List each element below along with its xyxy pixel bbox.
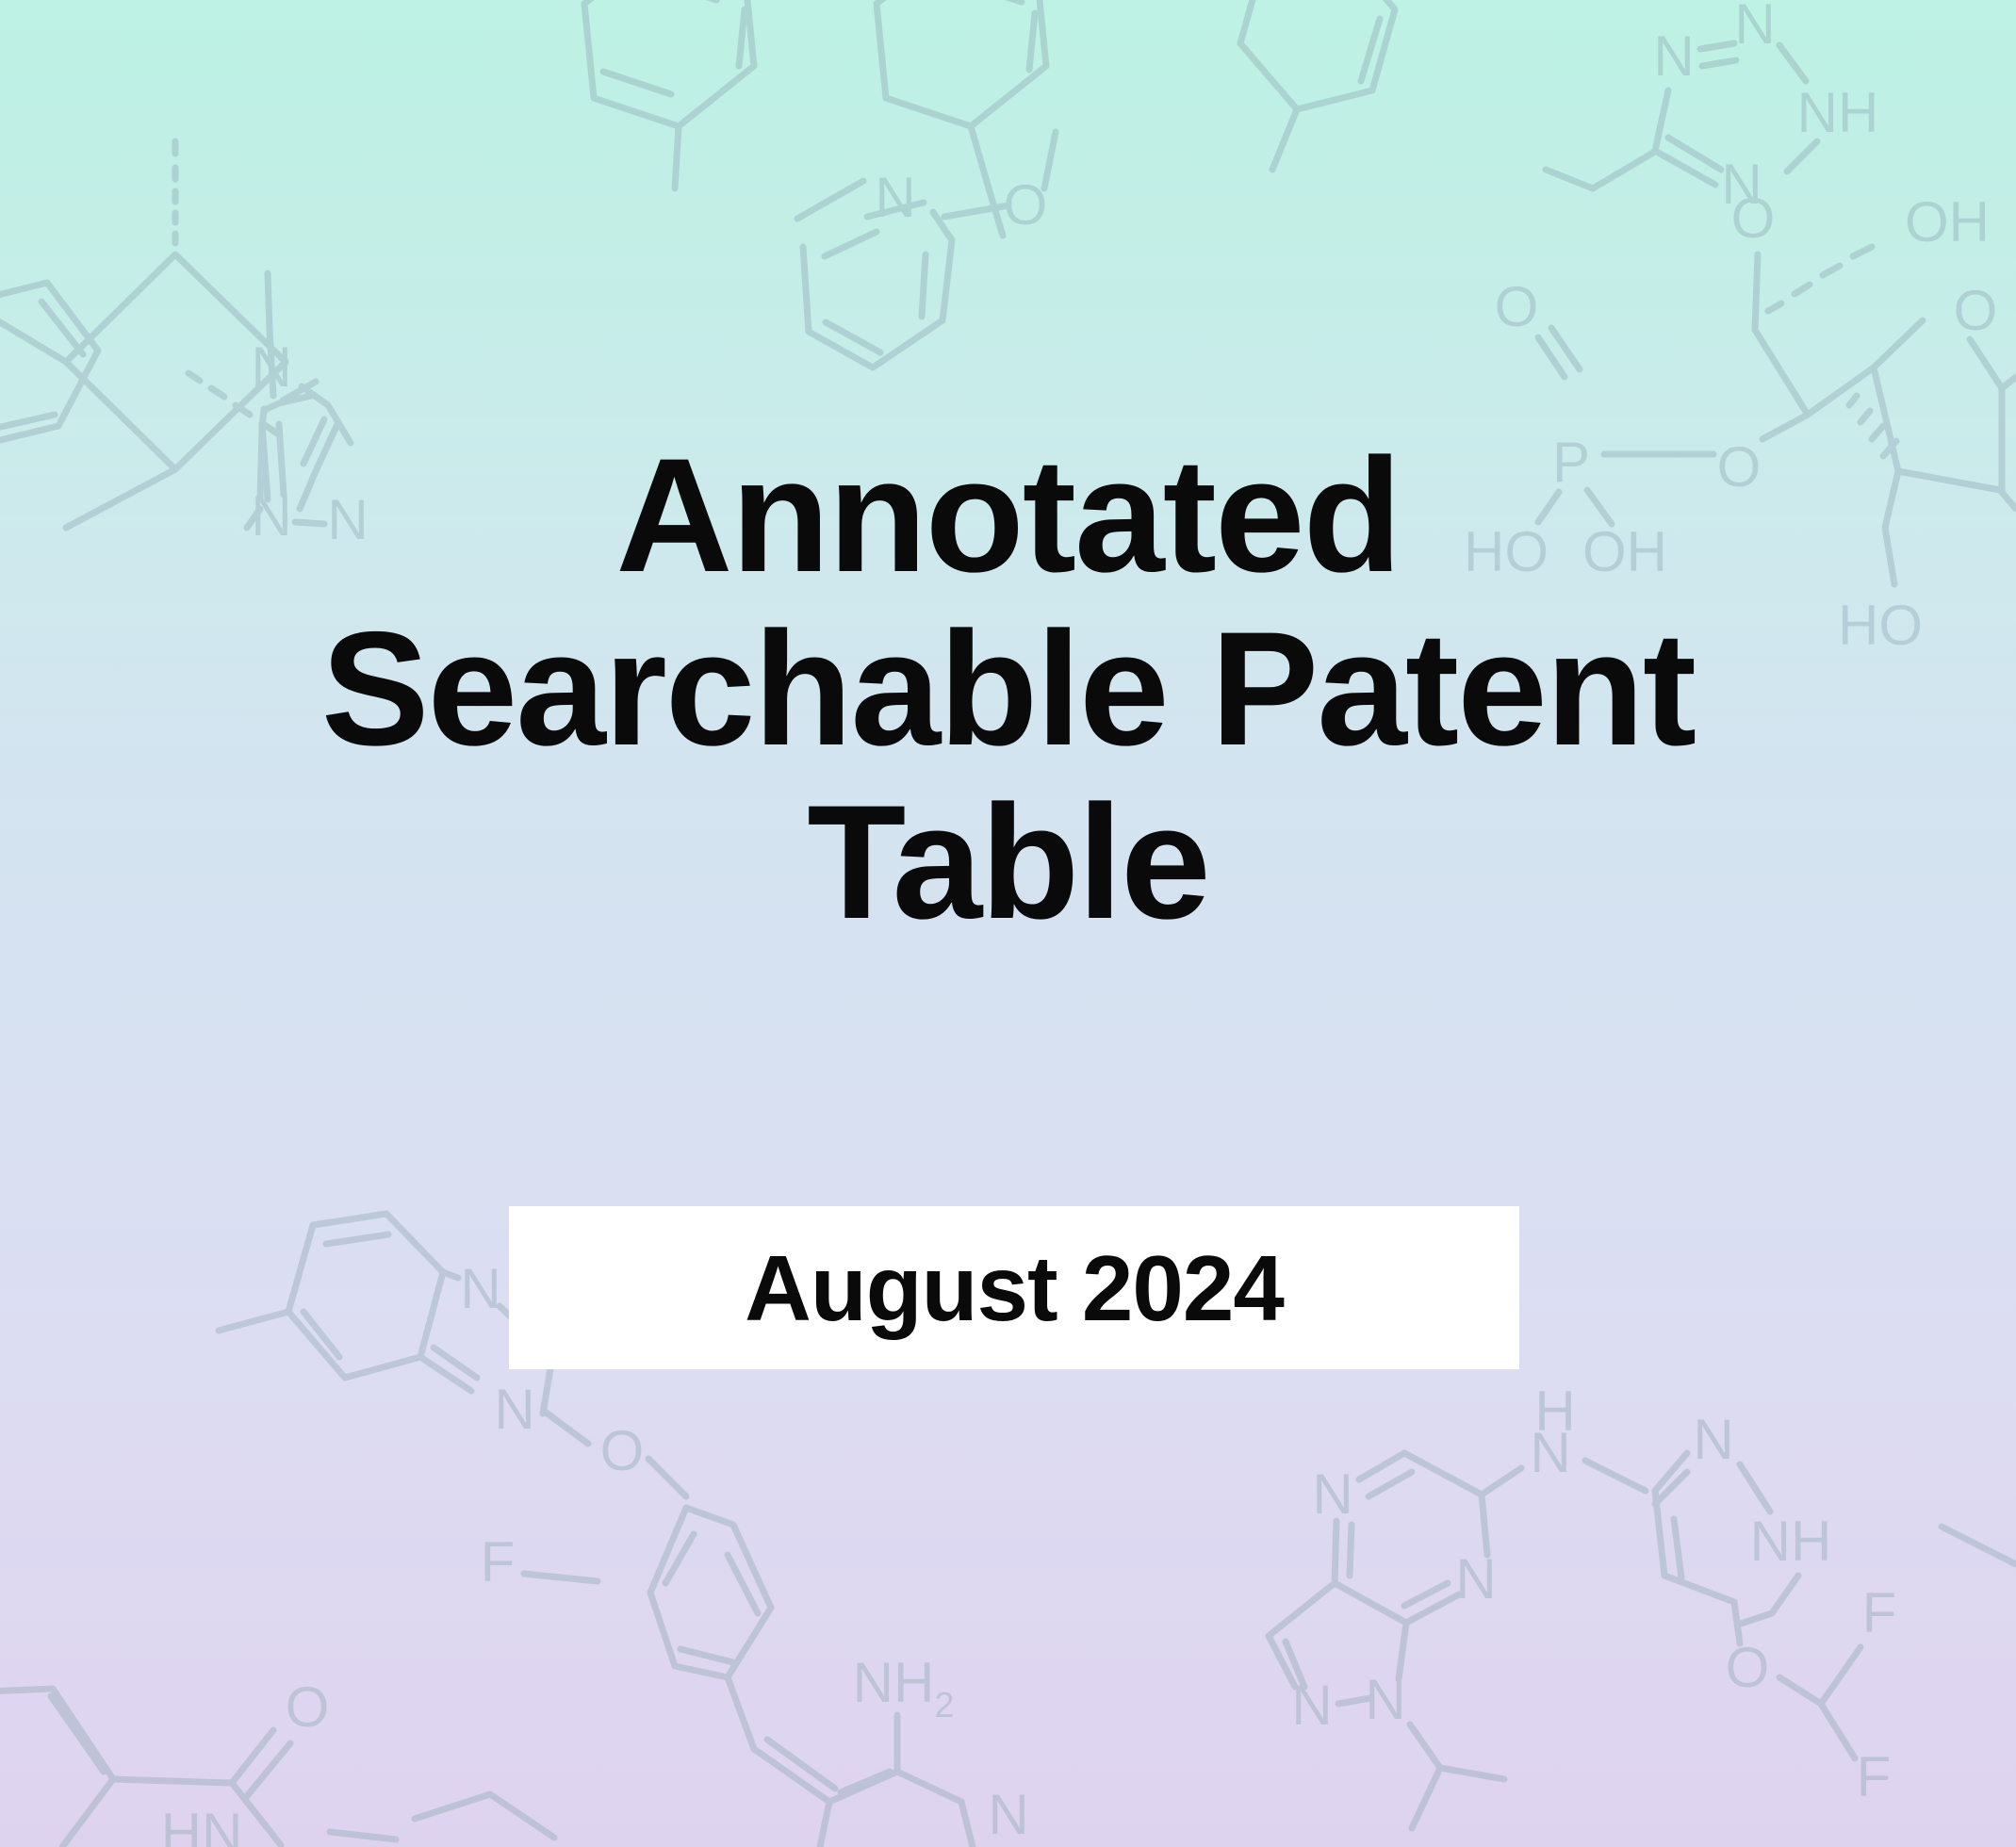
svg-text:O: O: [1731, 187, 1776, 250]
svg-text:N: N: [1455, 1547, 1496, 1610]
wm-difluoromethoxy-pyrazole-structure: N NH O F F: [1655, 1408, 2016, 1808]
svg-text:O: O: [1726, 1636, 1770, 1699]
svg-text:O: O: [286, 1675, 330, 1739]
svg-text:N: N: [1312, 1463, 1352, 1526]
svg-text:O: O: [1004, 173, 1048, 237]
svg-text:O: O: [1495, 275, 1539, 338]
wm-pyrazolopyrimidine-amine-structure: H N N N N N: [1269, 1380, 1646, 1828]
report-cover-page: N N N: [0, 0, 2016, 1847]
svg-text:HN: HN: [161, 1802, 243, 1847]
svg-text:N: N: [1530, 1421, 1570, 1484]
svg-text:N: N: [1721, 153, 1762, 216]
svg-text:N: N: [1734, 0, 1775, 56]
svg-text:F: F: [1857, 1745, 1892, 1808]
svg-text:N: N: [494, 1378, 534, 1441]
page-title: Annotated Searchable Patent Table: [170, 429, 1846, 949]
svg-text:N: N: [460, 1257, 500, 1320]
wm-tetrazole-structure: N N NH N: [1546, 0, 1878, 216]
svg-text:N: N: [251, 335, 291, 399]
svg-text:N: N: [1653, 25, 1694, 88]
svg-text:2: 2: [934, 1686, 954, 1725]
svg-text:N: N: [1291, 1674, 1332, 1737]
svg-text:N: N: [988, 1783, 1028, 1846]
date-badge-label: August 2024: [745, 1242, 1284, 1334]
svg-text:H: H: [1534, 1380, 1575, 1443]
wm-benzene-ring-top-right-edge: [1240, 0, 1395, 170]
svg-text:F: F: [1862, 1581, 1897, 1644]
svg-text:N: N: [1693, 1408, 1733, 1471]
wm-phenyl-pyridine-ether-structure: N O: [584, 0, 1056, 368]
date-badge: August 2024: [509, 1206, 1519, 1369]
svg-text:N: N: [1365, 1668, 1405, 1731]
svg-text:N: N: [875, 166, 915, 229]
svg-text:O: O: [600, 1419, 645, 1482]
svg-text:OH: OH: [1905, 190, 1990, 253]
svg-text:F: F: [481, 1530, 516, 1594]
wm-acyl-cyclohexene-structure: O HN: [0, 1675, 554, 1847]
svg-text:NH: NH: [1797, 81, 1879, 144]
title-block: Annotated Searchable Patent Table: [0, 429, 2016, 949]
wm-aminopyrimidine-structure: NH 2 N: [754, 1651, 1029, 1847]
svg-text:NH: NH: [1750, 1510, 1832, 1573]
svg-text:NH: NH: [853, 1651, 935, 1714]
wm-benzene-ring-left: [0, 283, 98, 445]
svg-text:O: O: [1954, 279, 1998, 342]
